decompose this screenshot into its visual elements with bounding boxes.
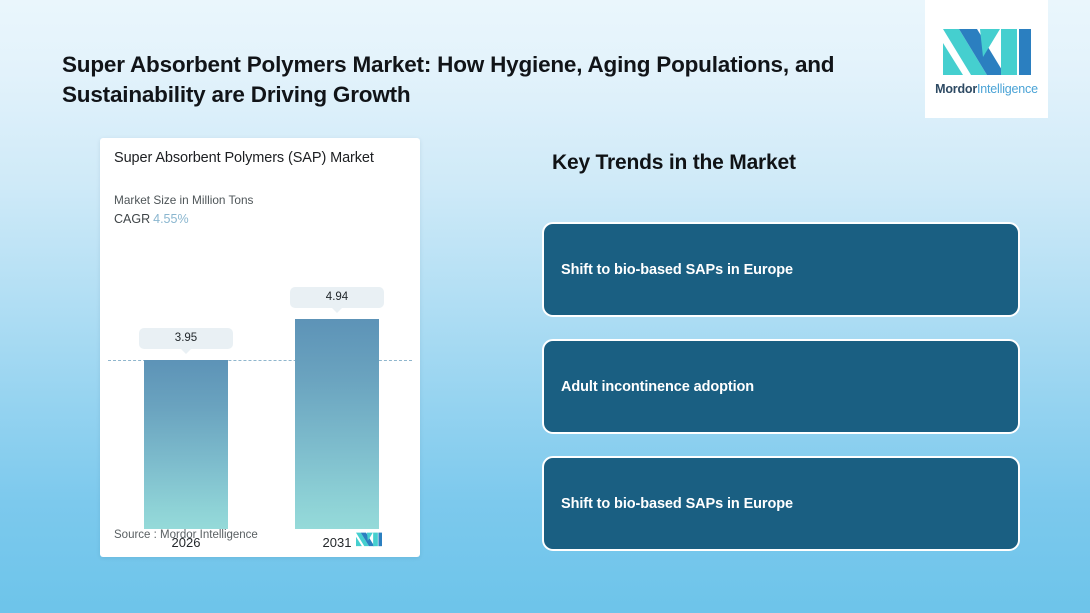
brand-word-mordor: Mordor	[935, 82, 977, 96]
chart-cagr: CAGR4.55%	[114, 212, 189, 226]
footer-logo	[356, 530, 382, 552]
cagr-label: CAGR	[114, 212, 150, 226]
bar-2026	[144, 360, 228, 529]
page-title: Super Absorbent Polymers Market: How Hyg…	[62, 50, 892, 110]
trend-card-2[interactable]: Adult incontinence adoption	[542, 339, 1020, 434]
bar-value-label: 4.94	[290, 287, 384, 308]
key-trends-title: Key Trends in the Market	[552, 151, 796, 175]
mordor-intelligence-logo-icon	[943, 23, 1031, 75]
chart-card: Super Absorbent Polymers (SAP) Market Ma…	[100, 138, 420, 557]
cagr-value: 4.55%	[150, 212, 188, 226]
trend-card-1[interactable]: Shift to bio-based SAPs in Europe	[542, 222, 1020, 317]
trend-card-label: Adult incontinence adoption	[544, 379, 754, 395]
trend-card-label: Shift to bio-based SAPs in Europe	[544, 496, 793, 512]
chart-subtitle: Market Size in Million Tons	[114, 193, 253, 207]
bar-value-label: 3.95	[139, 328, 233, 349]
brand-logo-box: MordorIntelligence	[925, 0, 1048, 118]
source-text: Source : Mordor Intelligence	[114, 529, 258, 541]
mordor-intelligence-mark-icon	[356, 530, 382, 547]
brand-word-intelligence: Intelligence	[977, 82, 1038, 96]
chart-title: Super Absorbent Polymers (SAP) Market	[114, 148, 394, 169]
brand-wordmark: MordorIntelligence	[935, 82, 1038, 96]
trend-card-label: Shift to bio-based SAPs in Europe	[544, 262, 793, 278]
bar-2031	[295, 319, 379, 529]
trend-card-3[interactable]: Shift to bio-based SAPs in Europe	[542, 456, 1020, 551]
infographic-page: { "headline": "Super Absorbent Polymers …	[0, 0, 1090, 613]
source-label: Source :	[114, 529, 157, 541]
chart-plot-area: 3.95 4.94 2026 2031	[100, 238, 420, 521]
source-name: Mordor Intelligence	[160, 529, 258, 541]
chart-card-footer: Source : Mordor Intelligence	[100, 521, 420, 557]
